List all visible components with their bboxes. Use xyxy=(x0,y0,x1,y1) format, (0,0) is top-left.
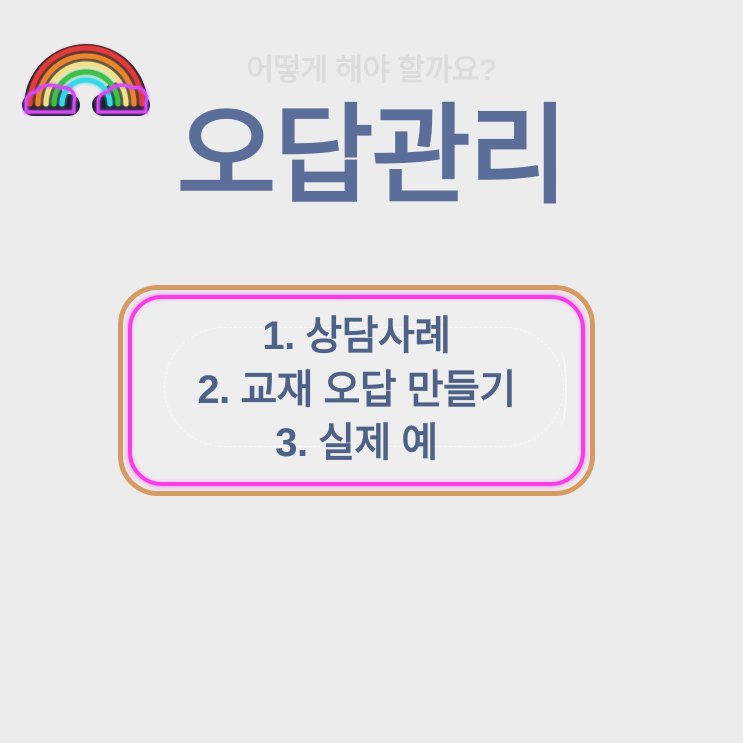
list-item: 2. 교재 오답 만들기 xyxy=(197,364,515,418)
agenda-list: 1. 상담사례 2. 교재 오답 만들기 3. 실제 예 xyxy=(197,310,515,471)
list-item: 3. 실제 예 xyxy=(197,417,515,471)
agenda-box: 1. 상담사례 2. 교재 오답 만들기 3. 실제 예 xyxy=(118,285,595,496)
slide-canvas: 어떻게 해야 할까요? 오답관리 1. 상담사례 2. 교재 오답 만들기 3.… xyxy=(0,0,743,743)
page-title: 오답관리 xyxy=(0,96,743,217)
list-item: 1. 상담사례 xyxy=(197,310,515,364)
slide-subtitle: 어떻게 해야 할까요? xyxy=(0,54,743,87)
agenda-box-inner-panel: 1. 상담사례 2. 교재 오답 만들기 3. 실제 예 xyxy=(128,295,585,486)
watermark-artifact-edge xyxy=(553,351,567,427)
